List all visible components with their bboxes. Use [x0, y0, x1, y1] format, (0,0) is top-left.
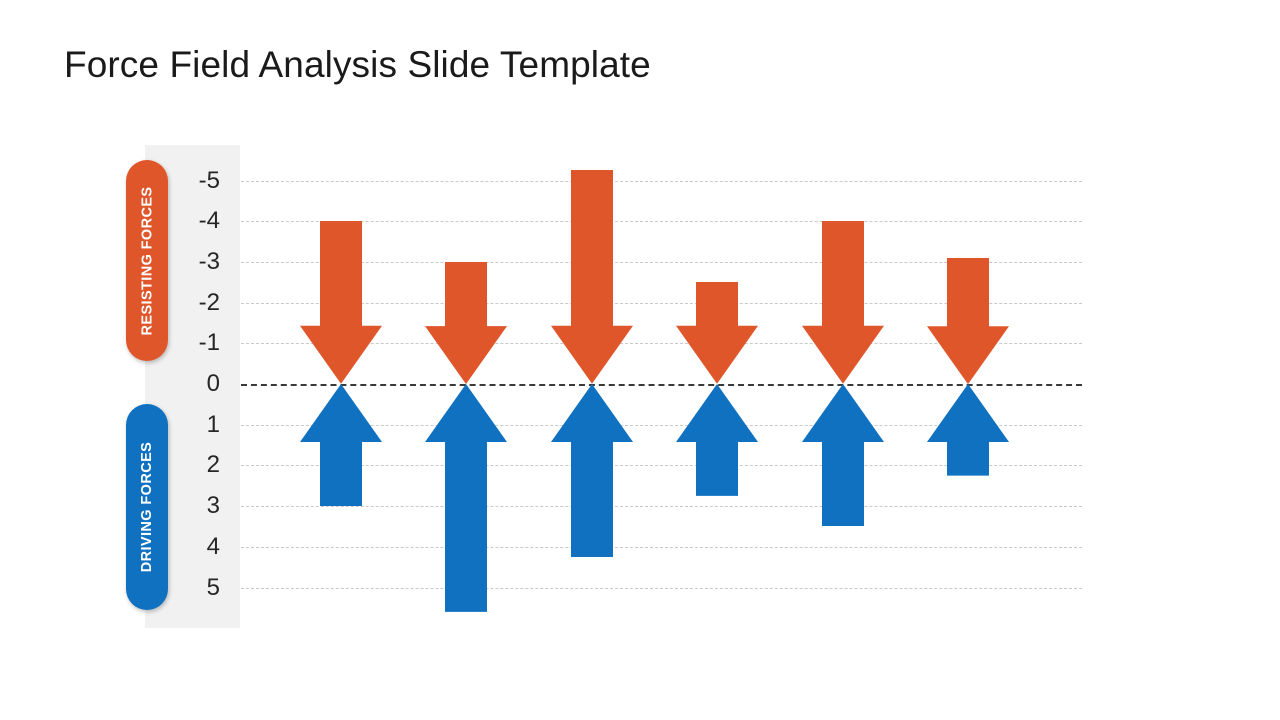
slide-canvas: Force Field Analysis Slide Template -5-4… — [0, 0, 1280, 720]
legend-pill-driving-forces[interactable]: DRIVING FORCES — [126, 404, 168, 610]
resisting-force-arrow-4[interactable] — [676, 282, 758, 384]
driving-force-arrow-2[interactable] — [425, 384, 507, 612]
resisting-force-arrow-6[interactable] — [927, 258, 1009, 384]
resisting-force-arrow-5[interactable] — [802, 221, 884, 384]
driving-force-arrow-6[interactable] — [927, 384, 1009, 476]
legend-pill-resisting-label: RESISTING FORCES — [139, 186, 155, 335]
arrow-plot-layer — [0, 0, 1280, 720]
driving-force-arrow-3[interactable] — [551, 384, 633, 557]
driving-force-arrow-1[interactable] — [300, 384, 382, 506]
driving-force-arrow-4[interactable] — [676, 384, 758, 496]
legend-pill-resisting-forces[interactable]: RESISTING FORCES — [126, 160, 168, 361]
legend-pill-driving-label: DRIVING FORCES — [139, 442, 155, 572]
driving-force-arrow-5[interactable] — [802, 384, 884, 526]
resisting-force-arrow-1[interactable] — [300, 221, 382, 384]
resisting-force-arrow-2[interactable] — [425, 262, 507, 384]
resisting-force-arrow-3[interactable] — [551, 170, 633, 384]
force-field-chart: -5-4-3-2-1012345 RESISTING FORCES DRIVIN… — [0, 0, 1280, 720]
